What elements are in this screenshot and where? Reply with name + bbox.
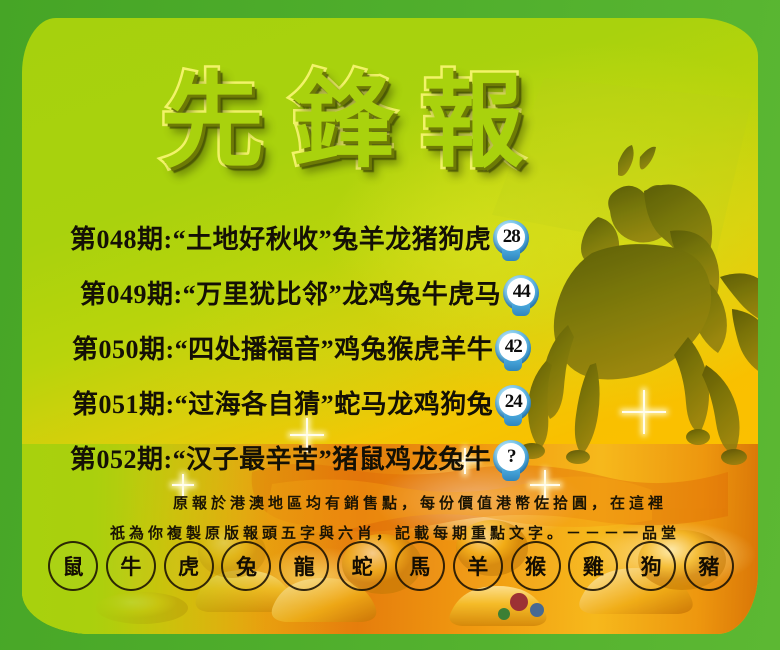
lottery-ball-unknown: ? [493,440,529,476]
zodiac-monkey: 猴 [511,541,561,591]
issue-label: 第052期: [70,439,173,476]
issue-label: 第050期: [72,329,175,366]
phrase-text: “四处播福音” [175,329,335,366]
phrase-text: “汉子最辛苦” [173,439,333,476]
lottery-ball: 24 [495,385,531,421]
notice-text: 原報於港澳地區均有銷售點，每份價值港幣佐拾圓，在這裡 祇為你複製原版報頭五字與六… [22,488,758,548]
zodiac-rabbit: 兔 [221,541,271,591]
page-title: 先鋒報 [134,66,550,176]
poster-panel: 先鋒報 第048期: “土地好秋收” 兔羊龙猪狗虎 28 第049期: “万里犹… [22,18,758,634]
zodiac-pig: 豬 [684,541,734,591]
zodiac-horse: 馬 [395,541,445,591]
zodiac-dragon: 龍 [279,541,329,591]
zodiac-row: 鼠 牛 虎 兔 龍 蛇 馬 羊 猴 雞 狗 豬 [36,540,746,592]
zodiac-text: 龙鸡兔牛虎马 [342,274,501,311]
ball-number: 42 [499,333,527,361]
lottery-ball: 44 [503,275,539,311]
ball-number: ? [497,443,525,471]
zodiac-goat: 羊 [453,541,503,591]
prediction-row: 第048期: “土地好秋收” 兔羊龙猪狗虎 28 [22,210,758,265]
zodiac-rat: 鼠 [48,541,98,591]
poster-title-wrap: 先鋒報 [22,66,662,176]
zodiac-text: 兔羊龙猪狗虎 [332,219,491,256]
zodiac-rooster: 雞 [568,541,618,591]
zodiac-tiger: 虎 [164,541,214,591]
lottery-ball: 42 [495,330,531,366]
zodiac-text: 猪鼠鸡龙兔牛 [332,439,491,476]
ball-number: 24 [499,388,527,416]
zodiac-dog: 狗 [626,541,676,591]
phrase-text: “过海各自猜” [175,384,335,421]
ball-number: 44 [507,278,535,306]
lottery-ball: 28 [493,220,529,256]
newspaper-poster: 先鋒報 第048期: “土地好秋收” 兔羊龙猪狗虎 28 第049期: “万里犹… [0,0,780,650]
prediction-row: 第049期: “万里犹比邻” 龙鸡兔牛虎马 44 [22,265,758,320]
zodiac-text: 鸡兔猴虎羊牛 [334,329,493,366]
issue-label: 第049期: [80,274,183,311]
notice-line-1: 原報於港澳地區均有銷售點，每份價值港幣佐拾圓，在這裡 [22,488,758,518]
phrase-text: “土地好秋收” [173,219,333,256]
phrase-text: “万里犹比邻” [183,274,343,311]
issue-label: 第048期: [70,219,173,256]
prediction-row: 第050期: “四处播福音” 鸡兔猴虎羊牛 42 [22,320,758,375]
zodiac-ox: 牛 [106,541,156,591]
zodiac-text: 蛇马龙鸡狗兔 [334,384,493,421]
issue-label: 第051期: [72,384,175,421]
prediction-row: 第051期: “过海各自猜” 蛇马龙鸡狗兔 24 [22,375,758,430]
zodiac-snake: 蛇 [337,541,387,591]
prediction-row: 第052期: “汉子最辛苦” 猪鼠鸡龙兔牛 ? [22,430,758,485]
ball-number: 28 [497,223,525,251]
prediction-list: 第048期: “土地好秋收” 兔羊龙猪狗虎 28 第049期: “万里犹比邻” … [22,210,758,485]
